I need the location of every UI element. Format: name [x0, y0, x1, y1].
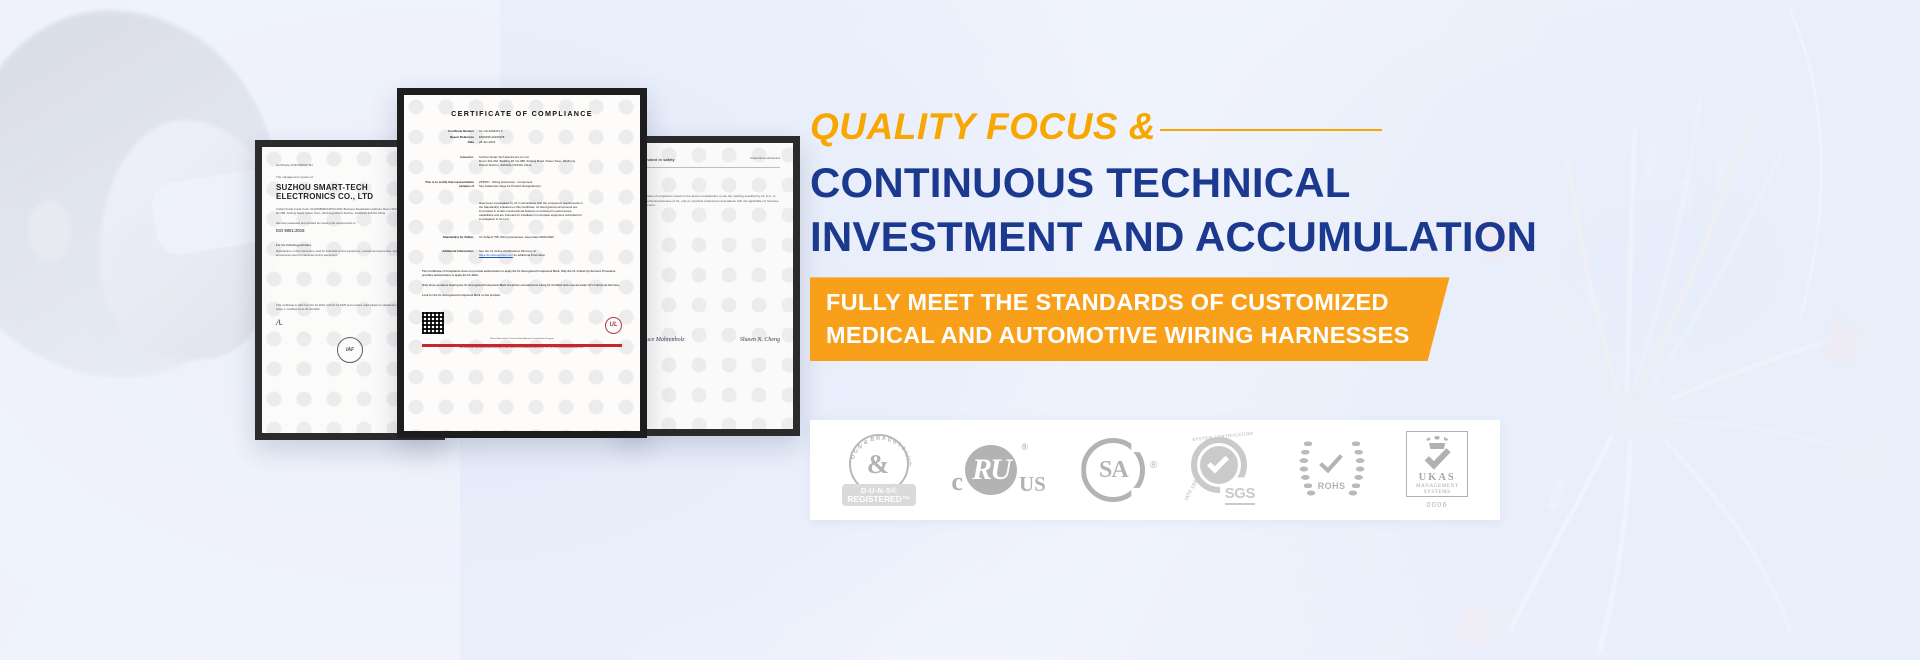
registered-trademark-icon: ® — [1150, 460, 1157, 471]
certificate-title: CERTIFICATE OF COMPLIANCE — [422, 109, 622, 118]
additional-key: Additional Information: — [422, 249, 474, 253]
cert-disclaimer-3: Look for the UL Recognized Component Mar… — [422, 294, 622, 298]
certificate-paper: Standard in safety Underwriters Laborato… — [627, 143, 793, 429]
certificate-of-compliance[interactable]: CERTIFICATE OF COMPLIANCE Certificate Nu… — [397, 88, 647, 438]
iaf-accreditation-mark: IAF — [337, 337, 363, 363]
sgs-iatf-icon[interactable]: SYSTEM CERTIFICATION IATF 16949 SGS — [1181, 435, 1257, 505]
duns-plate: D-U-N-S® REGISTERED™ — [842, 484, 916, 506]
ukas-accreditation-number: 0006 — [1406, 500, 1468, 509]
cert-field-key: Date — [422, 140, 474, 144]
check-icon — [1425, 443, 1451, 469]
standard-value: UL Subject 758, Wiring Harnesses, Issue … — [479, 235, 554, 239]
iatf-standard-label: IATF 16949 — [1184, 474, 1202, 502]
duns-registered-icon[interactable]: D U N & B R A D S T R E E T & D-U- — [842, 434, 916, 506]
banner-stage: CLT-C2S — [0, 0, 1920, 660]
qr-code — [422, 312, 444, 334]
subtitle-ribbon: FULLY MEET THE STANDARDS OF CUSTOMIZED M… — [810, 277, 1450, 361]
cert-disclaimer-1: This Certificate of Compliance does not … — [422, 270, 622, 278]
certify-value: ZPPWC - Wiring Harnesses - Component See… — [479, 180, 542, 188]
standard-key: Standard(s) for Safety: — [422, 235, 474, 239]
cert-right-body: Certificate of compliance issued to the … — [640, 194, 780, 207]
cert-field-row: Date 28-Jan-2022 — [422, 140, 622, 144]
certificate-paper: CERTIFICATE OF COMPLIANCE Certificate Nu… — [404, 95, 640, 431]
cert-right-signature-right: Shawn N. Cheng — [740, 337, 780, 343]
duns-ampersand: & — [867, 449, 890, 480]
ul-roundel: RU ® — [965, 445, 1017, 495]
certificates-group: Certificate CN22/0080179H The management… — [255, 88, 795, 508]
csa-icon[interactable]: SA ® — [1081, 438, 1145, 502]
certificate-ul-addendum[interactable]: Standard in safety Underwriters Laborato… — [620, 136, 800, 436]
issued-to-value: Suzhou Smart-Tech Electronics Co Ltd Roo… — [479, 155, 579, 167]
ukas-icon[interactable]: UKAS MANAGEMENT SYSTEMS 0006 — [1406, 431, 1468, 509]
ukas-wordmark: UKAS — [1419, 472, 1456, 483]
duns-label-2: REGISTERED™ — [847, 495, 910, 503]
headline-line-2: INVESTMENT AND ACCUMULATION — [810, 210, 1870, 264]
headline-line-1: CONTINUOUS TECHNICAL — [810, 156, 1870, 210]
page-title: CONTINUOUS TECHNICAL INVESTMENT AND ACCU… — [810, 156, 1870, 264]
ribbon-line-1: FULLY MEET THE STANDARDS OF CUSTOMIZED — [826, 286, 1410, 318]
cert-field-row: Certificate Number UL-US-2204474-0 — [422, 129, 622, 133]
registered-trademark-icon: ® — [1021, 442, 1026, 452]
cert-field-value: UL-US-2204474-0 — [479, 129, 502, 133]
spacer — [422, 201, 474, 205]
operator-ear-shape — [28, 200, 72, 262]
cert-field-value: 28-Jan-2022 — [479, 140, 495, 144]
cert-right-lab: Underwriters Laboratories — [740, 157, 780, 161]
ribbon-text: FULLY MEET THE STANDARDS OF CUSTOMIZED M… — [810, 277, 1450, 361]
headline-block: QUALITY FOCUS & CONTINUOUS TECHNICAL INV… — [810, 108, 1870, 361]
ul-listed-icon[interactable]: c RU ® US — [951, 445, 1045, 495]
certificate-reflection — [620, 436, 800, 646]
eyebrow-text: QUALITY FOCUS & — [810, 108, 1156, 147]
ul-roundel-text: RU — [972, 453, 1010, 487]
ukas-sub-2: SYSTEMS — [1424, 489, 1451, 495]
ul-prefix-c: c — [951, 469, 963, 495]
cert-disclaimer-2: Only those products bearing the UL Recog… — [422, 284, 622, 288]
rohs-wordmark: ROHS — [1293, 481, 1371, 491]
csa-text: SA — [1081, 438, 1145, 502]
cert-field-value: E529496-20220128 — [479, 135, 504, 139]
cert-field-key: Report Reference — [422, 135, 474, 139]
ul-recognized-mark: UL — [605, 317, 622, 334]
ukas-box: UKAS MANAGEMENT SYSTEMS — [1406, 431, 1468, 497]
cert-field-row: Report Reference E529496-20220128 — [422, 135, 622, 139]
cert-footer-red: Any information and documentation involv… — [422, 347, 622, 350]
ribbon-line-2: MEDICAL AND AUTOMOTIVE WIRING HARNESSES — [826, 319, 1410, 351]
issued-to-key: Issued to: — [422, 155, 474, 159]
rohs-icon[interactable]: ROHS — [1293, 437, 1371, 503]
additional-tail: for additional information — [514, 253, 546, 257]
check-icon — [1319, 449, 1343, 473]
sgs-wordmark: SGS — [1225, 485, 1255, 505]
certification-logo-bar: D U N & B R A D S T R E E T & D-U- — [810, 420, 1500, 520]
eyebrow-row: QUALITY FOCUS & — [810, 108, 1870, 147]
ul-suffix-us: US — [1019, 474, 1046, 495]
eyebrow-rule — [1160, 129, 1382, 131]
cert-body: Have been investigated by UL in accordan… — [479, 201, 584, 221]
cert-signatory: Bruce Mahrenholz, Director North America… — [422, 338, 622, 341]
certify-key: This is to certify that representative s… — [422, 180, 474, 188]
ul-directory-link[interactable]: https://iq.ulprospector.com — [479, 253, 513, 257]
cert-field-key: Certificate Number — [422, 129, 474, 133]
